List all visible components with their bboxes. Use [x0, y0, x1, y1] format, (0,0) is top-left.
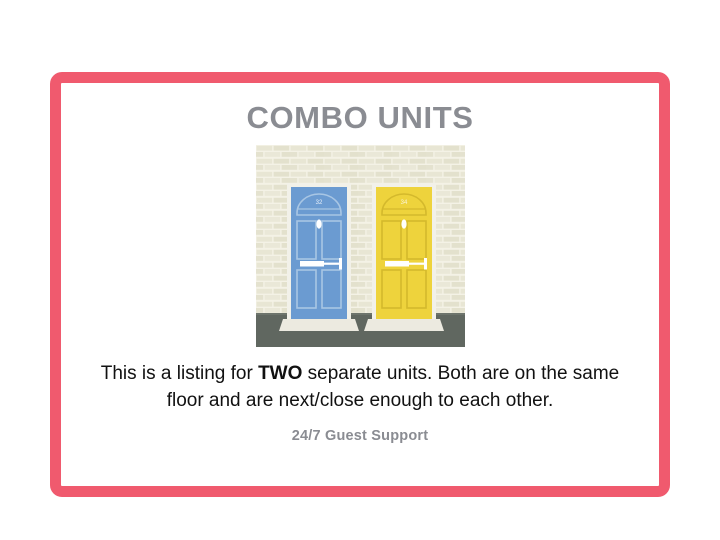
- left-door-leaf: [291, 187, 347, 319]
- right-door-leaf: [376, 187, 432, 319]
- right-door-step: [364, 319, 444, 331]
- right-door-letterbox: [385, 261, 409, 267]
- left-door-handle-plate: [339, 258, 342, 270]
- left-door-knocker: [316, 219, 321, 228]
- right-door-handle-bar: [409, 263, 425, 265]
- guest-support-caption: 24/7 Guest Support: [292, 428, 429, 444]
- two-front-doors-illustration: 32: [256, 145, 465, 347]
- slide-canvas: COMBO UNITS: [0, 0, 720, 540]
- left-door-handle-bar: [324, 263, 340, 265]
- left-door-house-number: 32: [315, 200, 322, 206]
- body-text-prefix: This is a listing for: [101, 363, 258, 384]
- right-door-group: 34: [364, 183, 444, 331]
- left-door-step: [279, 319, 359, 331]
- page-title: COMBO UNITS: [246, 101, 473, 135]
- frame-inner: COMBO UNITS: [61, 83, 659, 486]
- right-door-knocker: [401, 219, 406, 228]
- body-paragraph: This is a listing for TWO separate units…: [80, 361, 640, 415]
- left-door-group: 32: [279, 183, 359, 331]
- illustration-container: 32: [256, 145, 465, 347]
- right-door-handle-plate: [424, 258, 427, 270]
- content-frame: COMBO UNITS: [50, 72, 670, 497]
- body-text-emphasis: TWO: [258, 363, 302, 384]
- right-door-house-number: 34: [400, 200, 407, 206]
- left-door-letterbox: [300, 261, 324, 267]
